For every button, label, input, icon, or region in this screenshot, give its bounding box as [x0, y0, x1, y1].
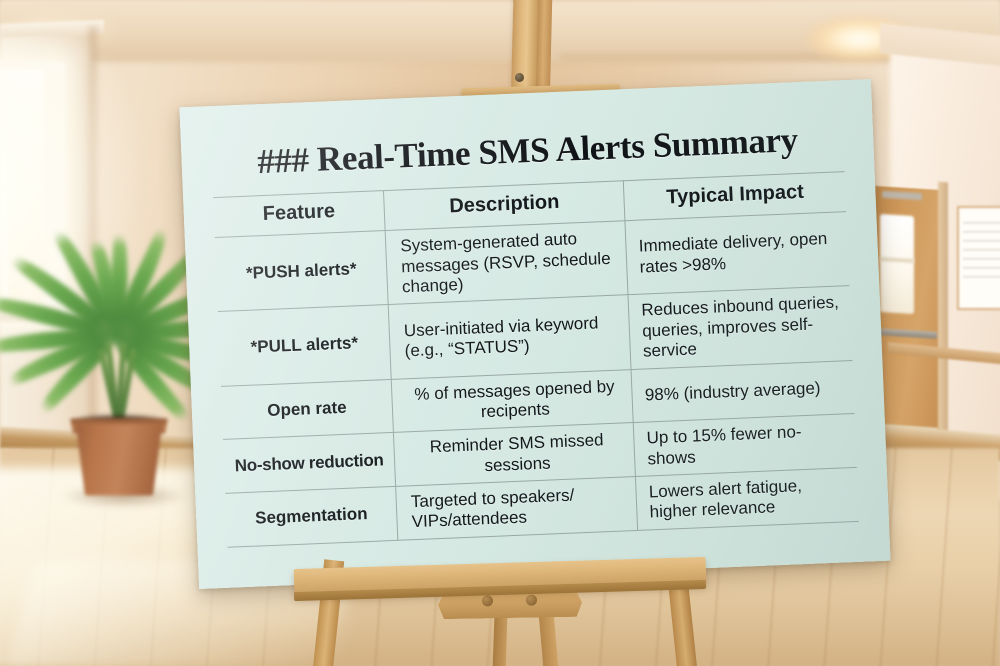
door-jamb — [938, 182, 948, 468]
row-impact: Immediate delivery, open rates >98% — [625, 212, 849, 295]
row-feature: Open rate — [221, 379, 394, 440]
room-scene: ### Real-Time SMS Alerts Summary Feature… — [0, 0, 1000, 666]
row-description: Targeted to speakers/ VIPs/attendees — [396, 477, 638, 541]
summary-table: Feature Description Typical Impact *PUSH… — [213, 171, 859, 547]
easel-peg-right — [526, 595, 537, 606]
row-impact: Up to 15% fewer no-shows — [634, 414, 857, 477]
row-description: System-generated auto messages (RSVP, sc… — [385, 221, 628, 305]
row-impact: Lowers alert fatigue, higher relevance — [636, 468, 859, 531]
row-description: Reminder SMS missed sessions — [394, 423, 636, 487]
easel-peg-left — [482, 595, 493, 606]
row-impact: 98% (industry average) — [631, 360, 854, 423]
framed-notice-text-lines — [963, 222, 1000, 278]
row-impact: Reduces inbound queries, queries, improv… — [628, 286, 852, 369]
row-feature: Segmentation — [225, 486, 398, 547]
row-description: % of messages opened by recipents — [391, 369, 633, 433]
column-header-feature: Feature — [213, 191, 385, 238]
poster-board: ### Real-Time SMS Alerts Summary Feature… — [179, 79, 890, 589]
row-feature: No-show reduction — [223, 433, 396, 494]
row-description: User-initiated via keyword (e.g., “STATU… — [388, 295, 631, 379]
page-title: ### Real-Time SMS Alerts Summary — [211, 118, 844, 183]
door-window-panel — [880, 214, 914, 314]
row-feature: *PULL alerts* — [218, 305, 392, 386]
row-feature: *PUSH alerts* — [215, 231, 389, 312]
